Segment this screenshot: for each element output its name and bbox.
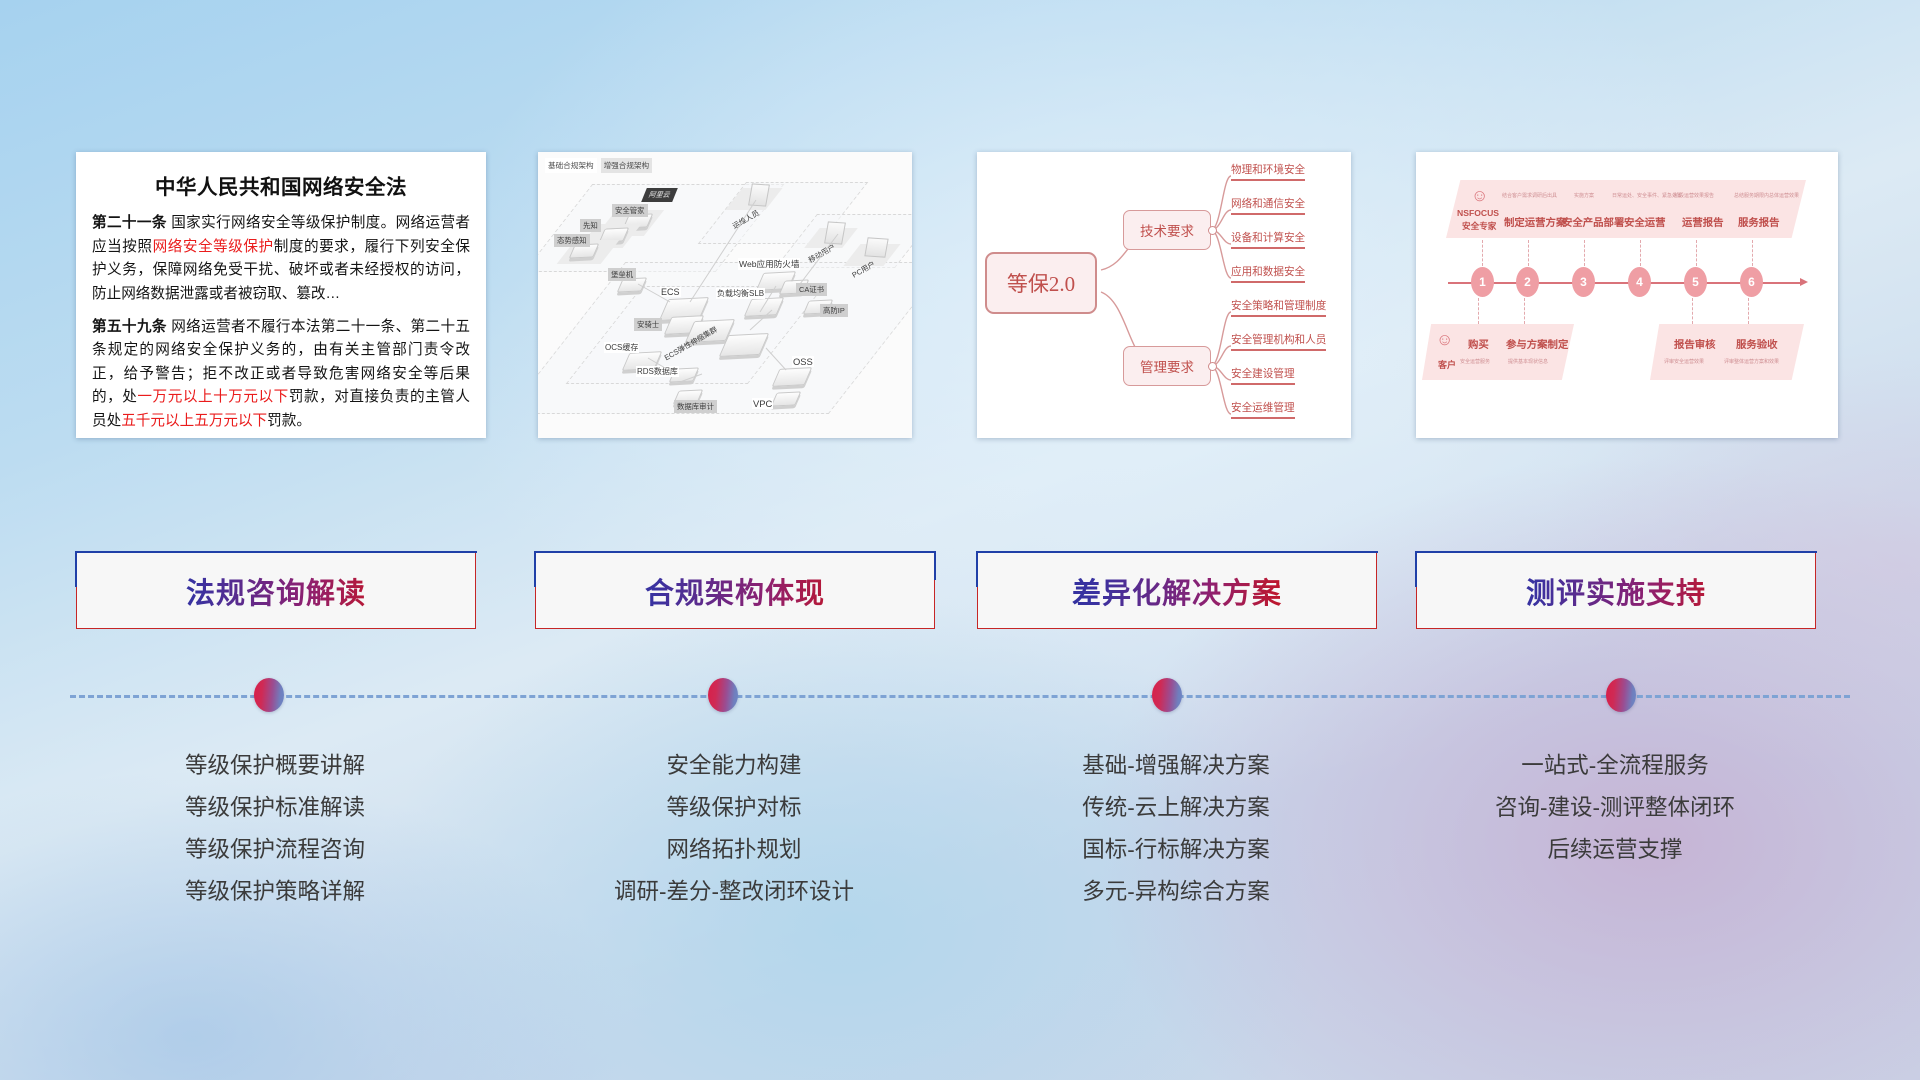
step5-top: 运营报告 xyxy=(1682,214,1724,229)
timeline-dot-1[interactable] xyxy=(254,678,284,712)
mindmap-leaf-mgmt-4: 安全运维管理 xyxy=(1231,400,1295,419)
step-circle-2: 2 xyxy=(1516,267,1539,297)
timeline-arrow-icon xyxy=(1800,278,1808,286)
list-item: 后续运营支撑 xyxy=(1416,829,1814,871)
connector-1-top xyxy=(1482,240,1483,266)
mindmap-root: 等保2.0 xyxy=(985,252,1097,314)
top-band xyxy=(1446,180,1806,238)
connector-5-top xyxy=(1696,240,1697,266)
connector-4-top xyxy=(1640,240,1641,266)
column-list-2: 安全能力构建 等级保护对标 网络拓扑规划 调研-差分-整改闭环设计 xyxy=(535,745,933,912)
step2-top-sub: 结合客户需求调研后出具 xyxy=(1502,192,1557,199)
list-item: 咨询-建设-测评整体闭环 xyxy=(1416,787,1814,829)
step3-top-sub: 实施方案 xyxy=(1574,192,1594,199)
law-article-2: 第五十九条 xyxy=(92,319,167,335)
step4-top: 安全运营 xyxy=(1624,214,1666,229)
timeline-dot-3[interactable] xyxy=(1152,678,1182,712)
step4-top-sub: 日常运处、安全事件、紧急处置 xyxy=(1612,192,1682,199)
column-list-1: 等级保护概要讲解 等级保护标准解读 等级保护流程咨询 等级保护策略详解 xyxy=(76,745,474,912)
step6-top-sub: 总结服务期限内总体运营效果 xyxy=(1734,192,1799,199)
list-item: 等级保护策略详解 xyxy=(76,871,474,913)
connector-2-bottom xyxy=(1524,298,1525,324)
column-list-4: 一站式-全流程服务 咨询-建设-测评整体闭环 后续运营支撑 xyxy=(1416,745,1814,871)
step2-bottom: 参与方案制定 xyxy=(1506,336,1568,351)
step3-top: 安全产品部署 xyxy=(1562,214,1624,229)
step-circle-1: 1 xyxy=(1471,267,1494,297)
expert-label-line2: 安全专家 xyxy=(1462,220,1496,232)
bottom-band-right xyxy=(1650,324,1804,380)
title-box-2[interactable]: 合规架构体现 xyxy=(535,552,935,629)
title-box-2-label: 合规架构体现 xyxy=(536,553,934,628)
architecture-links xyxy=(538,152,912,438)
law-paragraph-2: 第五十九条 网络运营者不履行本法第二十一条、第二十五条规定的网络安全保护义务的，… xyxy=(92,316,470,434)
step1-bottom-sub: 安全运营服务 xyxy=(1460,358,1490,365)
mindmap-leaf-mgmt-3: 安全建设管理 xyxy=(1231,366,1295,385)
step1-bottom: 购买 xyxy=(1468,336,1489,351)
title-box-1[interactable]: 法规咨询解读 xyxy=(76,552,476,629)
step5-bottom: 报告审核 xyxy=(1674,336,1716,351)
law-run-1-1: 网络安全等级保护 xyxy=(153,239,274,255)
mindmap-leaf-tech-4: 应用和数据安全 xyxy=(1231,264,1305,283)
step-circle-6: 6 xyxy=(1740,267,1763,297)
list-item: 传统-云上解决方案 xyxy=(977,787,1375,829)
connector-3-top xyxy=(1584,240,1585,266)
mindmap-branch-mgmt: 管理要求 xyxy=(1123,346,1211,386)
step5-bottom-sub: 评审安全运营效果 xyxy=(1664,358,1704,365)
step6-bottom: 服务验收 xyxy=(1736,336,1778,351)
list-item: 等级保护流程咨询 xyxy=(76,829,474,871)
mindmap-leaf-tech-2: 网络和通信安全 xyxy=(1231,196,1305,215)
step2-bottom-sub: 提供基本现状信息 xyxy=(1508,358,1548,365)
list-item: 等级保护标准解读 xyxy=(76,787,474,829)
connector-6-bottom xyxy=(1748,298,1749,324)
step-circle-3: 3 xyxy=(1572,267,1595,297)
list-item: 安全能力构建 xyxy=(535,745,933,787)
mindmap-leaf-tech-1: 物理和环境安全 xyxy=(1231,162,1305,181)
connector-2-top xyxy=(1528,240,1529,266)
title-box-3-label: 差异化解决方案 xyxy=(978,553,1376,628)
mindmap-collapse-tech-icon[interactable] xyxy=(1208,226,1217,235)
law-article-1: 第二十一条 xyxy=(92,215,167,231)
connector-6-top xyxy=(1752,240,1753,266)
mindmap-leaf-tech-3: 设备和计算安全 xyxy=(1231,230,1305,249)
mindmap-branch-tech: 技术要求 xyxy=(1123,210,1211,250)
expert-label-line1: NSFOCUS xyxy=(1457,208,1499,218)
list-item: 等级保护概要讲解 xyxy=(76,745,474,787)
title-box-3[interactable]: 差异化解决方案 xyxy=(977,552,1377,629)
list-item: 网络拓扑规划 xyxy=(535,829,933,871)
step-circle-5: 5 xyxy=(1684,267,1707,297)
mindmap-leaf-mgmt-1: 安全策略和管理制度 xyxy=(1231,298,1326,317)
title-box-4-label: 测评实施支持 xyxy=(1417,553,1815,628)
customer-label: 客户 xyxy=(1438,358,1456,371)
connector-1-bottom xyxy=(1478,298,1479,324)
step2-top: 制定运营方案 xyxy=(1504,214,1566,229)
timeline-dot-4[interactable] xyxy=(1606,678,1636,712)
mindmap-screenshot-card: 等保2.0 技术要求 管理要求 物理和环境安全 网络和通信安全 设备和计算安全 … xyxy=(977,152,1351,438)
expert-person-icon: ☺ xyxy=(1471,186,1488,206)
step6-bottom-sub: 评审整体运营方案和效果 xyxy=(1724,358,1779,365)
list-item: 调研-差分-整改闭环设计 xyxy=(535,871,933,913)
law-card-title: 中华人民共和国网络安全法 xyxy=(92,170,470,200)
mindmap-leaf-mgmt-2: 安全管理机构和人员 xyxy=(1231,332,1326,351)
nsfocus-screenshot-card: ☺ ☺ NSFOCUS 安全专家 客户 1 2 3 4 5 6 结合客户需求调研… xyxy=(1416,152,1838,438)
title-box-2-right-edge xyxy=(934,551,936,580)
list-item: 国标-行标解决方案 xyxy=(977,829,1375,871)
law-paragraph-1: 第二十一条 国家实行网络安全等级保护制度。网络运营者应当按照网络安全等级保护制度… xyxy=(92,212,470,307)
timeline-dot-2[interactable] xyxy=(708,678,738,712)
step5-top-sub: 阶段运营效果报告 xyxy=(1674,192,1714,199)
law-run-2-3: 五千元以上五万元以下 xyxy=(121,413,267,429)
step-circle-4: 4 xyxy=(1628,267,1651,297)
mindmap-collapse-mgmt-icon[interactable] xyxy=(1208,362,1217,371)
customer-person-icon: ☺ xyxy=(1436,330,1453,350)
law-screenshot-card: 中华人民共和国网络安全法 第二十一条 国家实行网络安全等级保护制度。网络运营者应… xyxy=(76,152,486,438)
law-run-2-1: 一万元以上十万元以下 xyxy=(137,389,288,405)
list-item: 等级保护对标 xyxy=(535,787,933,829)
column-list-3: 基础-增强解决方案 传统-云上解决方案 国标-行标解决方案 多元-异构综合方案 xyxy=(977,745,1375,912)
architecture-screenshot-card: 基础合规架构 增强合规架构 阿里云 安全管家 先知 态势感知 堡垒机 xyxy=(538,152,912,438)
title-box-1-label: 法规咨询解读 xyxy=(77,553,475,628)
list-item: 多元-异构综合方案 xyxy=(977,871,1375,913)
step6-top: 服务报告 xyxy=(1738,214,1780,229)
title-box-4[interactable]: 测评实施支持 xyxy=(1416,552,1816,629)
connector-5-bottom xyxy=(1692,298,1693,324)
list-item: 一站式-全流程服务 xyxy=(1416,745,1814,787)
law-run-2-4: 罚款。 xyxy=(267,413,311,429)
list-item: 基础-增强解决方案 xyxy=(977,745,1375,787)
timeline-dashed-line xyxy=(70,695,1850,698)
